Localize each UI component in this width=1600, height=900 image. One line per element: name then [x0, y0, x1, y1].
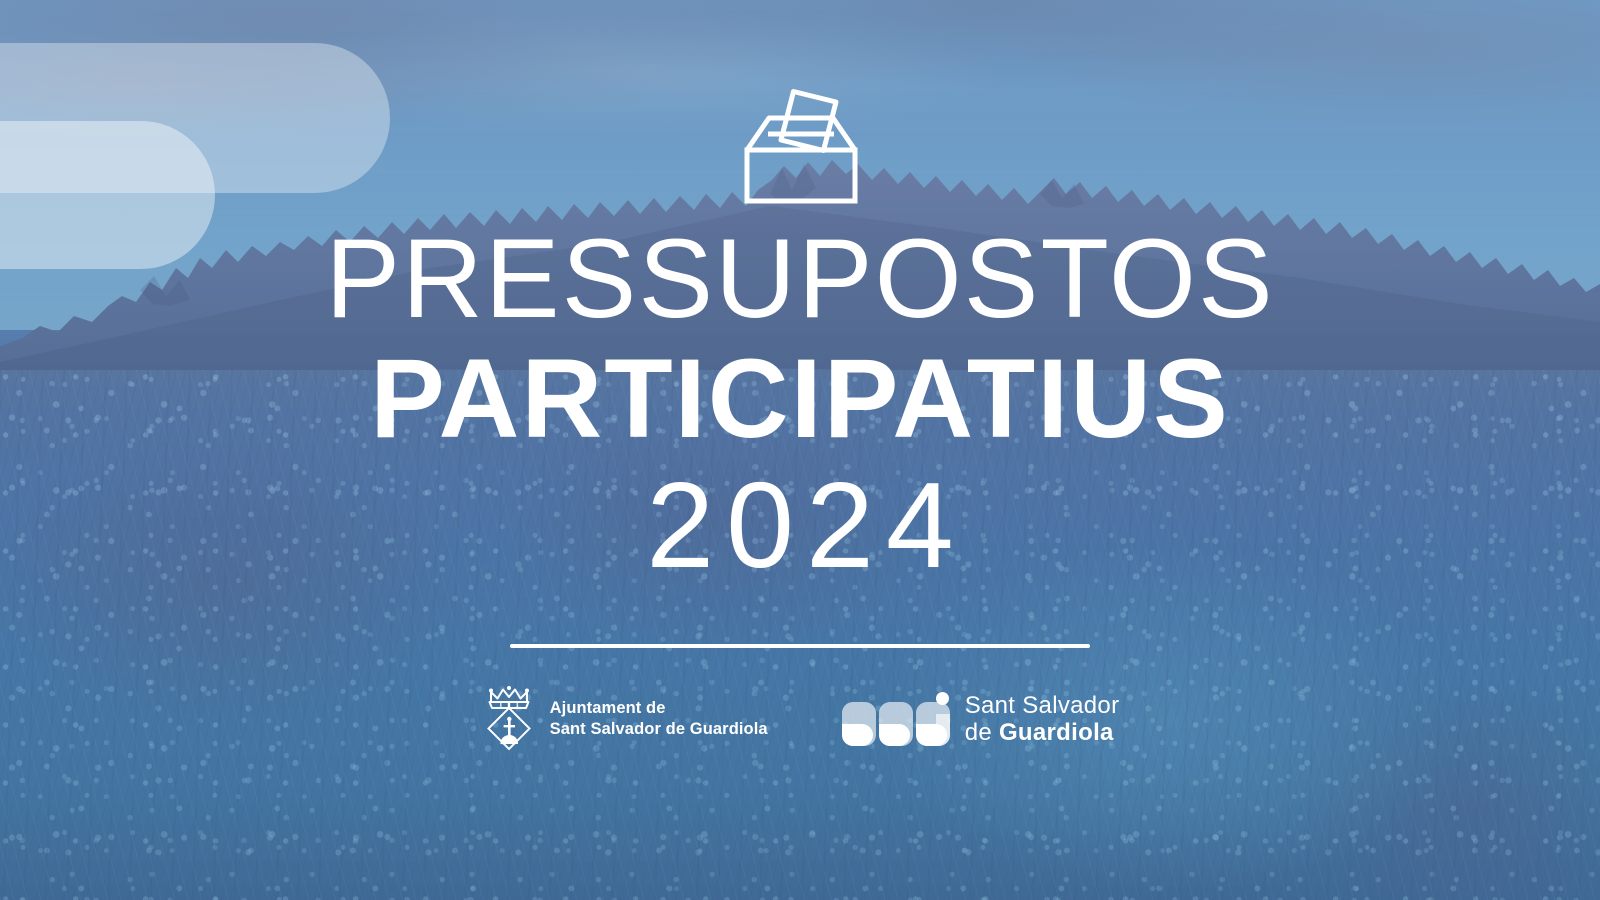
ballot-box-icon: [741, 64, 859, 206]
ajuntament-wordmark: Ajuntament de Sant Salvador de Guardiola: [550, 698, 768, 742]
ssg-line-2: de Guardiola: [965, 719, 1120, 747]
ajuntament-logo: Ajuntament de Sant Salvador de Guardiola: [481, 682, 768, 756]
title-block: PRESSUPOSTOS PARTICIPATIUS 2024: [325, 222, 1274, 586]
page-title-line-1: PRESSUPOSTOS: [325, 222, 1274, 336]
page-title-line-2: PARTICIPATIUS: [325, 342, 1274, 456]
ssg-logo: Sant Salvador de Guardiola: [842, 692, 1120, 748]
crown-shield-crest-icon: [481, 682, 537, 756]
divider-rule: [510, 644, 1090, 648]
ssg-line-1: Sant Salvador: [965, 692, 1120, 720]
logo-row: Ajuntament de Sant Salvador de Guardiola: [481, 682, 1120, 756]
page-title-year: 2024: [325, 464, 1274, 586]
ssg-monogram-icon: [842, 692, 952, 746]
ssg-line-2-bold: Guardiola: [999, 719, 1114, 746]
ajuntament-line-2: Sant Salvador de Guardiola: [550, 719, 768, 741]
ajuntament-line-1: Ajuntament de: [550, 698, 768, 720]
poster-canvas: PRESSUPOSTOS PARTICIPATIUS 2024: [0, 0, 1600, 900]
poster-content: PRESSUPOSTOS PARTICIPATIUS 2024: [0, 0, 1600, 900]
ssg-line-2-prefix: de: [965, 719, 999, 746]
ssg-wordmark: Sant Salvador de Guardiola: [965, 692, 1120, 748]
